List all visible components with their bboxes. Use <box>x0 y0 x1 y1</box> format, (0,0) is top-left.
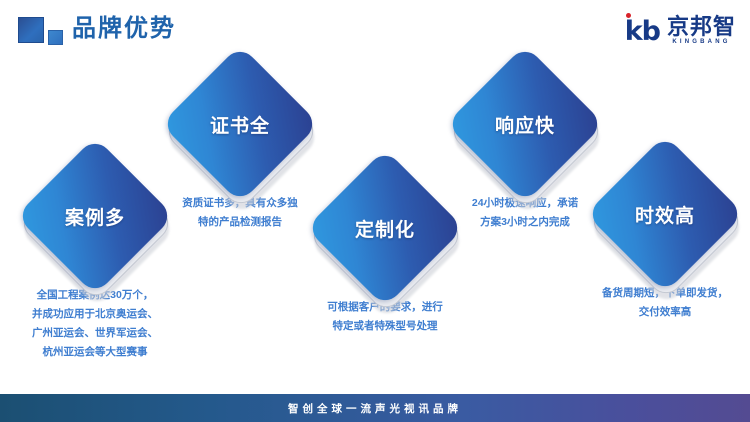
logo-english-name: KINGBANG <box>672 38 730 46</box>
advantage-card-grid: 案例多 全国工程案例达30万个， 并成功应用于北京奥运会、 广州亚运会、世界军运… <box>0 60 750 395</box>
footer-slogan: 智创全球一流声光视讯品牌 <box>288 401 462 416</box>
card-label: 案例多 <box>39 160 151 272</box>
advantage-card[interactable]: 时效高 备货周期短，下单即发货， 交付效率高 <box>580 158 750 322</box>
logo-mark-text: kb <box>625 18 660 46</box>
logo-chinese-name: 京邦智 <box>667 15 736 38</box>
logo-dot-icon <box>626 13 631 18</box>
card-label: 证书全 <box>184 68 296 180</box>
logo-name-block: 京邦智 KINGBANG <box>667 15 736 46</box>
header-decor-squares <box>18 17 68 47</box>
slide-root: 品牌优势 kb 京邦智 KINGBANG 案例多 全国工程案例达30万个， 并成… <box>0 0 750 422</box>
diamond-shape: 案例多 <box>39 160 151 272</box>
slide-header: 品牌优势 kb 京邦智 KINGBANG <box>0 0 750 60</box>
diamond-shape: 时效高 <box>609 158 721 270</box>
brand-logo: kb 京邦智 KINGBANG <box>625 14 736 46</box>
diamond-shape: 响应快 <box>469 68 581 180</box>
card-label: 响应快 <box>469 68 581 180</box>
diamond-shape: 证书全 <box>184 68 296 180</box>
slide-footer: 智创全球一流声光视讯品牌 <box>0 394 750 422</box>
card-label: 时效高 <box>609 158 721 270</box>
diamond-shape: 定制化 <box>329 172 441 284</box>
page-title: 品牌优势 <box>72 12 176 46</box>
decor-square-small-icon <box>48 30 63 45</box>
card-label: 定制化 <box>329 172 441 284</box>
decor-square-large-icon <box>18 17 44 43</box>
